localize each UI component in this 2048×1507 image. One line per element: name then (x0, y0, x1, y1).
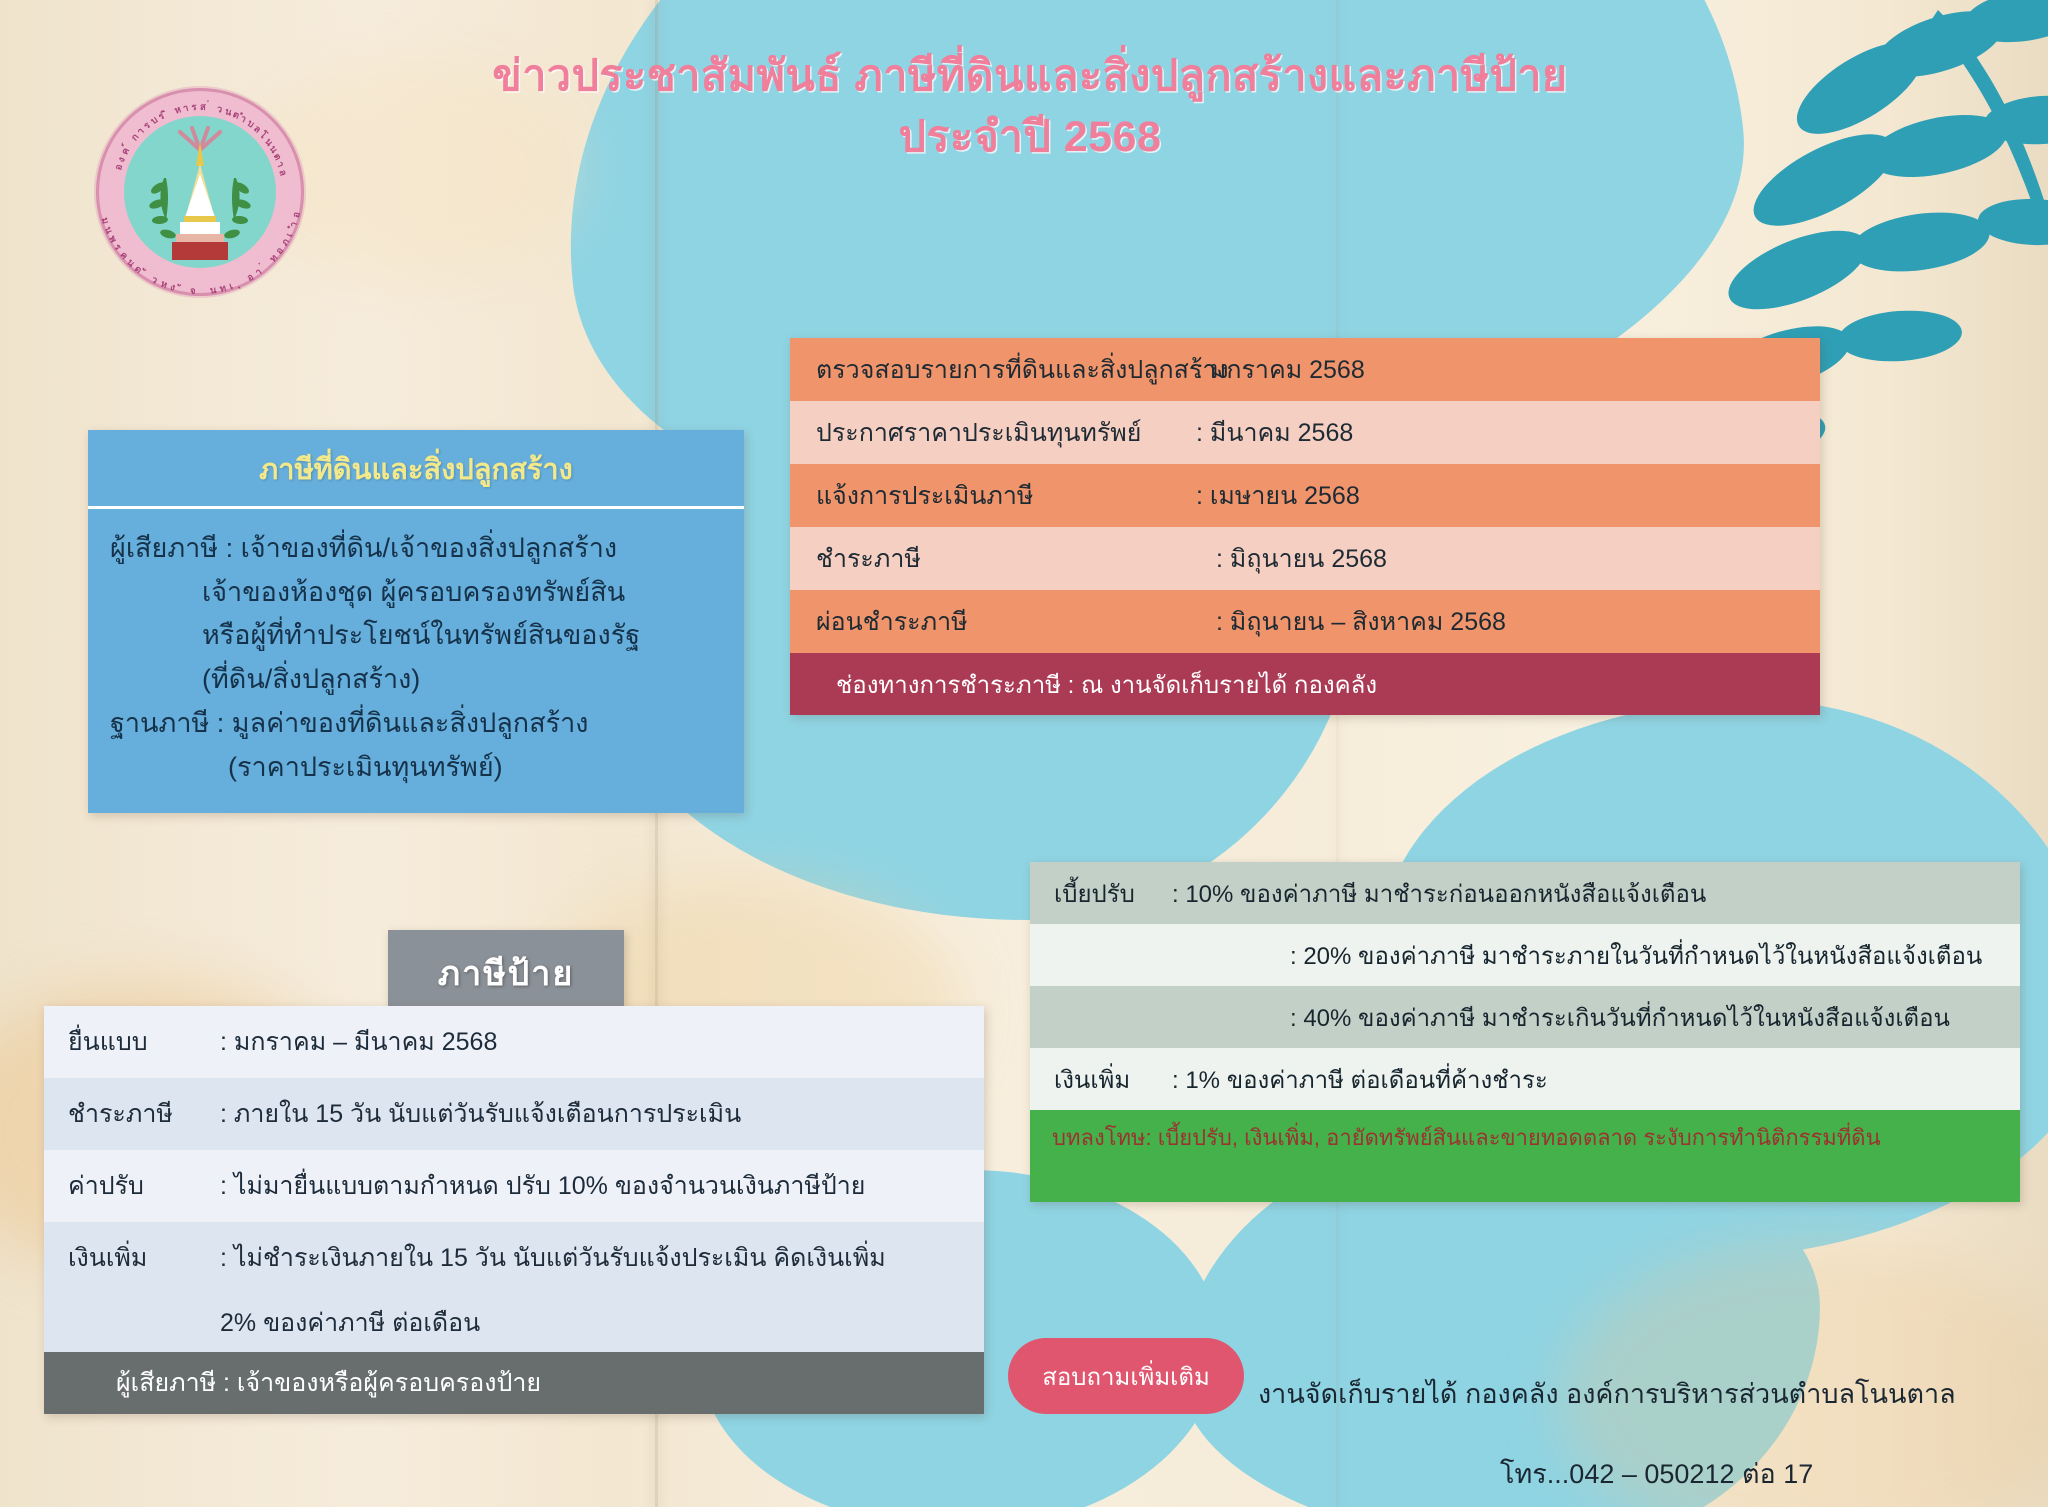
land-and-building-tax-card: ภาษีที่ดินและสิ่งปลูกสร้าง ผู้เสียภาษี :… (88, 430, 744, 813)
page-title: ข่าวประชาสัมพันธ์ ภาษีที่ดินและสิ่งปลูกส… (330, 46, 1730, 168)
schedule-row-value: : มกราคม 2568 (1196, 350, 1365, 390)
table-row: เงินเพิ่ม : ไม่ชำระเงินภายใน 15 วัน นับแ… (44, 1222, 984, 1294)
land-tax-card-body: ผู้เสียภาษี : เจ้าของที่ดิน/เจ้าของสิ่งป… (88, 509, 744, 813)
schedule-row-label: ผ่อนชำระภาษี (816, 602, 1216, 642)
poster-canvas: องค์การบริหารส่วนตำบลโนนตาล อำเภอท่าอุเท… (0, 0, 2048, 1507)
land-tax-line: ฐานภาษี : มูลค่าของที่ดินและสิ่งปลูกสร้า… (110, 702, 728, 746)
tax-schedule-table: ตรวจสอบรายการที่ดินและสิ่งปลูกสร้าง : มก… (790, 338, 1820, 715)
land-tax-line: (ที่ดิน/สิ่งปลูกสร้าง) (110, 658, 728, 702)
schedule-row-label: ประกาศราคาประเมินทุนทรัพย์ (816, 413, 1196, 453)
land-tax-line: หรือผู้ที่ทำประโยชน์ในทรัพย์สินของรัฐ (110, 614, 728, 658)
schedule-row-label: ตรวจสอบรายการที่ดินและสิ่งปลูกสร้าง (816, 350, 1196, 390)
sign-tax-row-value: : ไม่ชำระเงินภายใน 15 วัน นับแต่วันรับแจ… (220, 1238, 886, 1278)
sign-tax-row-label: ค่าปรับ (68, 1166, 220, 1206)
land-tax-card-title: ภาษีที่ดินและสิ่งปลูกสร้าง (88, 430, 744, 509)
schedule-row-value: : มีนาคม 2568 (1196, 413, 1353, 453)
table-row: : 20% ของค่าภาษี มาชำระภายในวันที่กำหนดไ… (1030, 924, 2020, 986)
table-row: ชำระภาษี : มิถุนายน 2568 (790, 527, 1820, 590)
page-title-line-2: ประจำปี 2568 (330, 107, 1730, 168)
table-row: แจ้งการประเมินภาษี : เมษายน 2568 (790, 464, 1820, 527)
table-row: เงินเพิ่ม : 1% ของค่าภาษี ต่อเดือนที่ค้า… (1030, 1048, 2020, 1110)
sign-tax-row-label: ชำระภาษี (68, 1094, 220, 1134)
penalty-table: เบี้ยปรับ : 10% ของค่าภาษี มาชำระก่อนออก… (1030, 862, 2020, 1202)
sign-tax-payer-footer: ผู้เสียภาษี : เจ้าของหรือผู้ครอบครองป้าย (44, 1352, 984, 1414)
sign-tax-row-label: เงินเพิ่ม (68, 1238, 220, 1278)
paper-fold-line (1336, 0, 1339, 1507)
schedule-row-value: : มิถุนายน – สิงหาคม 2568 (1216, 602, 1506, 642)
table-row: เบี้ยปรับ : 10% ของค่าภาษี มาชำระก่อนออก… (1030, 862, 2020, 924)
table-row: ผ่อนชำระภาษี : มิถุนายน – สิงหาคม 2568 (790, 590, 1820, 653)
schedule-row-value: : เมษายน 2568 (1196, 476, 1360, 516)
organization-emblem: องค์การบริหารส่วนตำบลโนนตาล อำเภอท่าอุเท… (96, 88, 304, 296)
land-tax-line: ผู้เสียภาษี : เจ้าของที่ดิน/เจ้าของสิ่งป… (110, 527, 728, 571)
land-tax-line: เจ้าของห้องชุด ผู้ครอบครองทรัพย์สิน (110, 571, 728, 615)
sign-tax-row-continuation: 2% ของค่าภาษี ต่อเดือน (44, 1294, 984, 1352)
penalty-row-value: : 40% ของค่าภาษี มาชำระเกินวันที่กำหนดไว… (1172, 998, 1950, 1037)
table-row: ตรวจสอบรายการที่ดินและสิ่งปลูกสร้าง : มก… (790, 338, 1820, 401)
sign-tax-badge-label: ภาษีป้าย (438, 946, 575, 1000)
schedule-row-label: แจ้งการประเมินภาษี (816, 476, 1196, 516)
payment-channel-footer: ช่องทางการชำระภาษี : ณ งานจัดเก็บรายได้ … (790, 653, 1820, 715)
emblem-ring-text: องค์การบริหารส่วนตำบลโนนตาล อำเภอท่าอุเท… (99, 91, 301, 293)
sign-tax-badge: ภาษีป้าย (388, 930, 624, 1016)
sign-tax-card: ยื่นแบบ : มกราคม – มีนาคม 2568 ชำระภาษี … (44, 1006, 984, 1414)
table-row: ค่าปรับ : ไม่มายื่นแบบตามกำหนด ปรับ 10% … (44, 1150, 984, 1222)
schedule-row-value: : มิถุนายน 2568 (1216, 539, 1387, 579)
penalty-row-value: : 10% ของค่าภาษี มาชำระก่อนออกหนังสือแจ้… (1172, 874, 1706, 913)
sign-tax-row-value: : ภายใน 15 วัน นับแต่วันรับแจ้งเตือนการป… (220, 1094, 741, 1134)
sign-tax-row-label: ยื่นแบบ (68, 1022, 220, 1062)
table-row: : 40% ของค่าภาษี มาชำระเกินวันที่กำหนดไว… (1030, 986, 2020, 1048)
penalty-row-value: : 20% ของค่าภาษี มาชำระภายในวันที่กำหนดไ… (1172, 936, 1982, 975)
contact-badge-label: สอบถามเพิ่มเติม (1042, 1357, 1210, 1396)
table-row: ยื่นแบบ : มกราคม – มีนาคม 2568 (44, 1006, 984, 1078)
land-tax-line: (ราคาประเมินทุนทรัพย์) (110, 746, 728, 790)
table-row: ชำระภาษี : ภายใน 15 วัน นับแต่วันรับแจ้ง… (44, 1078, 984, 1150)
sign-tax-row-value: : มกราคม – มีนาคม 2568 (220, 1022, 497, 1062)
penalty-row-value: : 1% ของค่าภาษี ต่อเดือนที่ค้างชำระ (1172, 1060, 1548, 1099)
schedule-row-label: ชำระภาษี (816, 539, 1216, 579)
penalty-row-label: เงินเพิ่ม (1054, 1060, 1172, 1099)
page-title-line-1: ข่าวประชาสัมพันธ์ ภาษีที่ดินและสิ่งปลูกส… (492, 52, 1567, 100)
contact-organization: งานจัดเก็บรายได้ กองคลัง องค์การบริหารส่… (1258, 1372, 1956, 1415)
contact-badge: สอบถามเพิ่มเติม (1008, 1338, 1244, 1414)
contact-phone: โทร...042 – 050212 ต่อ 17 (1500, 1452, 1813, 1495)
sign-tax-row-value: : ไม่มายื่นแบบตามกำหนด ปรับ 10% ของจำนวน… (220, 1166, 865, 1206)
table-row: ประกาศราคาประเมินทุนทรัพย์ : มีนาคม 2568 (790, 401, 1820, 464)
penalty-row-label: เบี้ยปรับ (1054, 874, 1172, 913)
penalty-consequences-footer: บทลงโทษ: เบี้ยปรับ, เงินเพิ่ม, อายัดทรัพ… (1030, 1110, 2020, 1202)
